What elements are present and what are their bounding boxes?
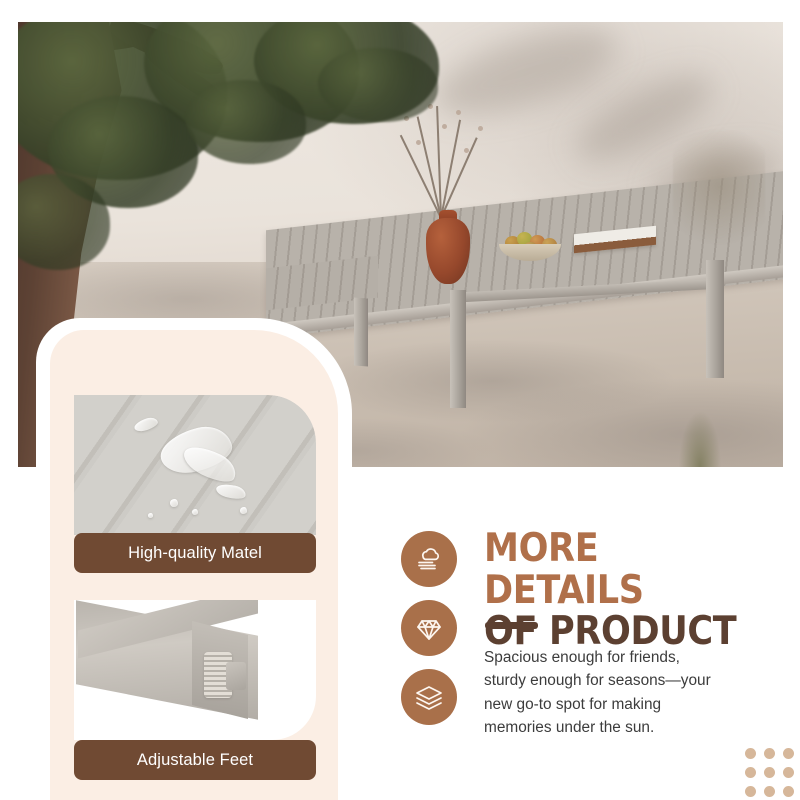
water-droplet — [148, 513, 153, 518]
dot-grid-decoration — [745, 748, 794, 797]
grass-tuft — [678, 409, 722, 467]
water-droplet — [170, 499, 178, 507]
page-title: MORE DETAILS OF PRODUCT — [484, 528, 754, 653]
marketing-canvas: High-quality Matel Adjustable Feet — [0, 0, 800, 800]
description-text: Spacious enough for friends, sturdy enou… — [484, 646, 726, 740]
water-droplet — [133, 416, 159, 434]
decor-dot — [764, 748, 775, 759]
layers-icon — [401, 669, 457, 725]
feature-card-material: High-quality Matel — [74, 395, 316, 573]
foot-pad — [226, 662, 246, 690]
decor-dot — [783, 786, 794, 797]
decor-dot — [745, 748, 756, 759]
decor-dot — [745, 767, 756, 778]
weather-resistant-icon — [401, 531, 457, 587]
diamond-icon — [401, 600, 457, 656]
material-closeup-photo — [74, 395, 316, 535]
decor-dot — [764, 767, 775, 778]
feature-card-feet: Adjustable Feet — [74, 600, 316, 780]
table-leg — [354, 298, 368, 367]
decor-dot — [764, 786, 775, 797]
dry-twig — [673, 130, 765, 270]
title-divider — [485, 622, 538, 629]
water-droplet — [192, 509, 198, 515]
headline-line-1: MORE DETAILS — [484, 528, 754, 611]
table-leg — [706, 260, 724, 378]
decor-dot — [783, 748, 794, 759]
feature-label-material: High-quality Matel — [74, 533, 316, 573]
water-droplet — [215, 482, 247, 501]
table-leg — [450, 290, 466, 408]
decor-dot — [745, 786, 756, 797]
water-droplet — [240, 507, 247, 514]
feature-label-feet: Adjustable Feet — [74, 740, 316, 780]
detail-icon-column — [401, 531, 457, 738]
adjustable-feet-closeup-photo — [74, 600, 316, 740]
decor-dot — [783, 767, 794, 778]
